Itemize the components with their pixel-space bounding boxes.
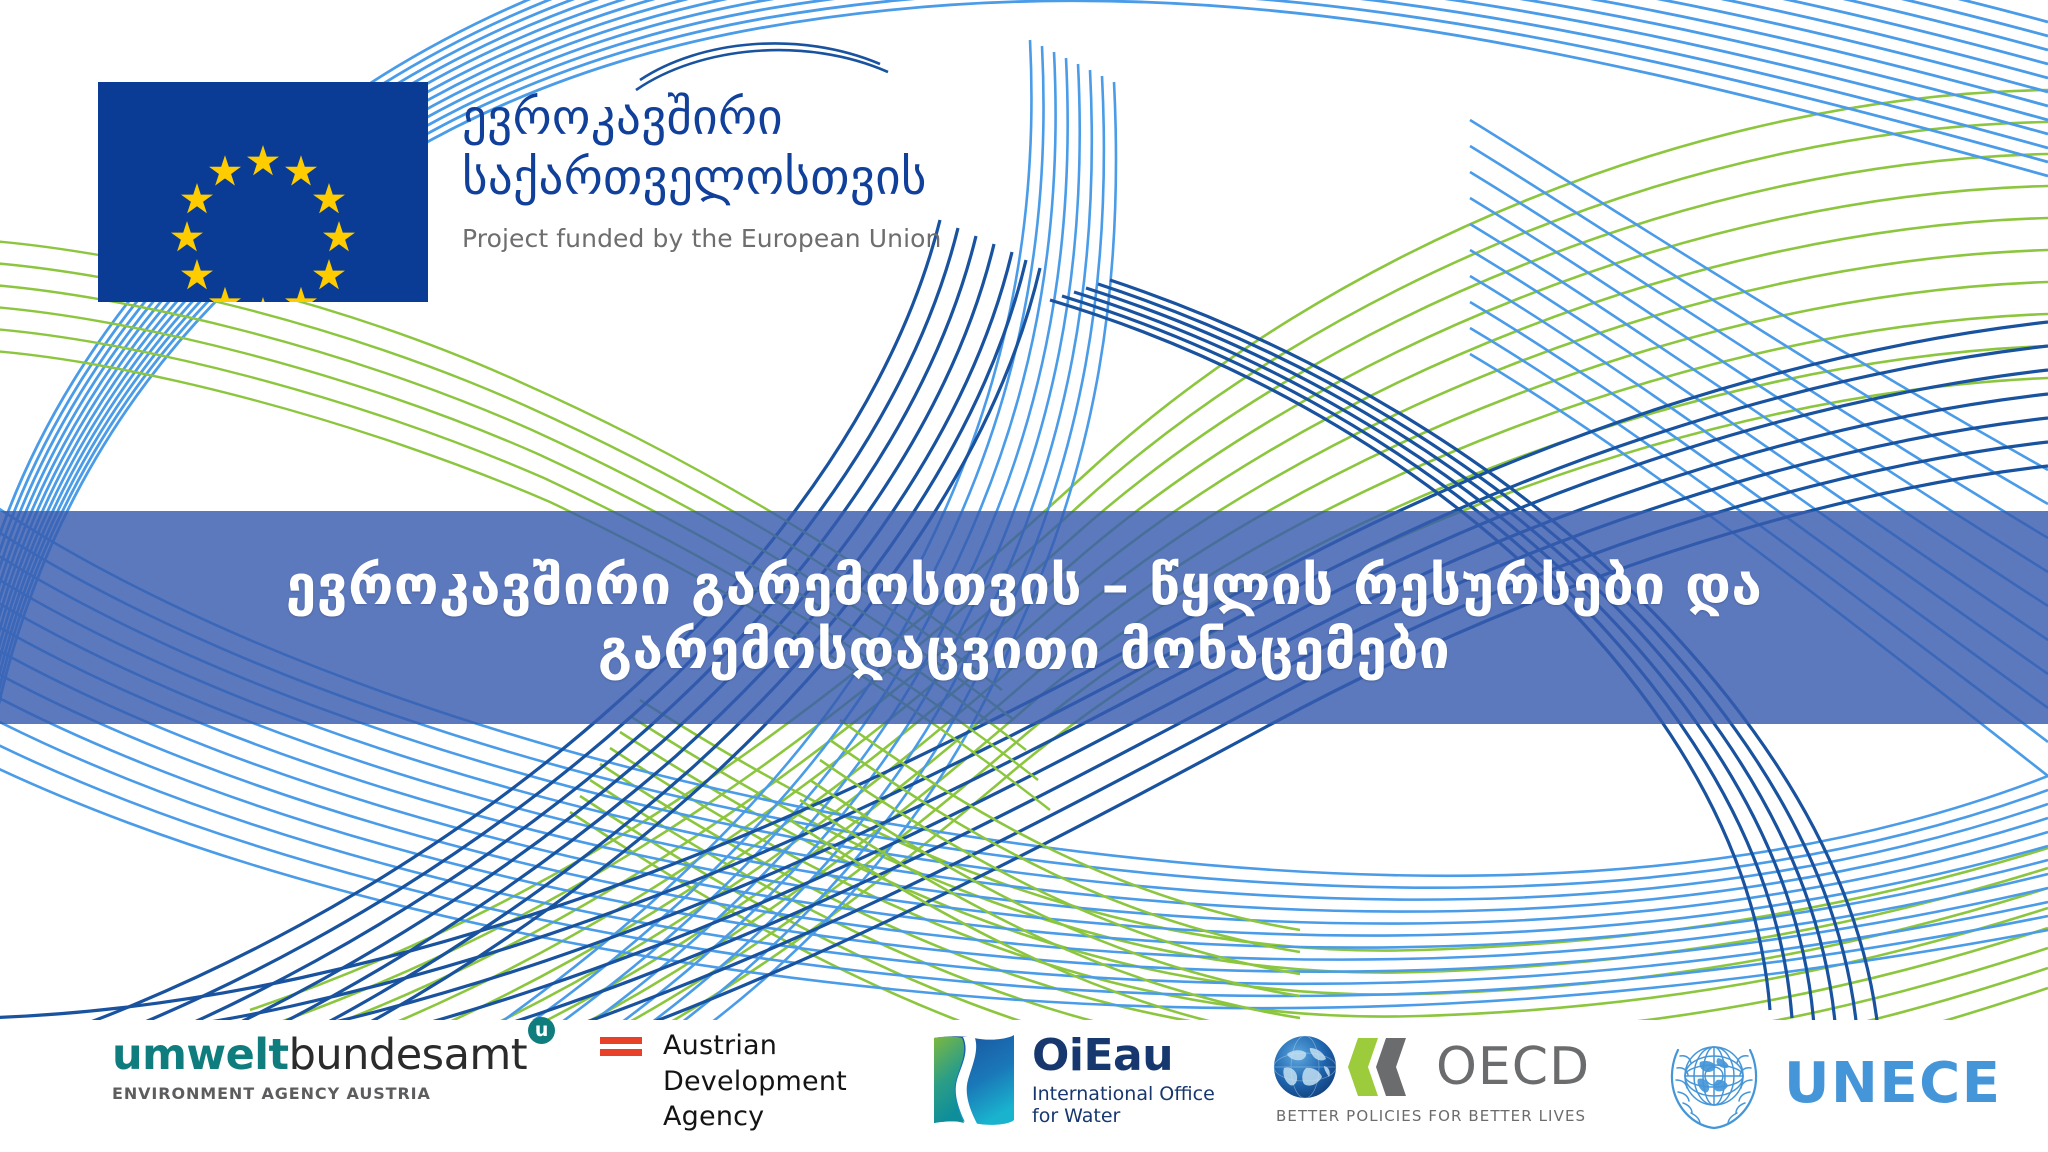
oecd-mark-row: OECD — [1272, 1034, 1590, 1100]
eu-logo-line-1: ევროკავშირი — [462, 88, 941, 148]
uba-wordmark: umweltbundesamtu — [112, 1034, 555, 1077]
uba-word-umwelt: umwelt — [112, 1030, 289, 1080]
uba-subtitle: ENVIRONMENT AGENCY AUSTRIA — [112, 1084, 555, 1103]
oieau-wordmark: OiEau — [1032, 1034, 1215, 1078]
slide-title: ევროკავშირი გარემოსთვის – წყლის რესურსებ… — [144, 554, 1904, 682]
oieau-text-block: OiEau International Office for Water — [1032, 1032, 1215, 1128]
ada-line-2: Development — [663, 1064, 847, 1100]
logo-austrian-development-agency: Austrian Development Agency — [600, 1028, 847, 1135]
eu-flag — [98, 82, 428, 302]
un-emblem-icon — [1660, 1032, 1768, 1136]
title-banner: ევროკავშირი გარემოსთვის – წყლის რესურსებ… — [0, 511, 2048, 724]
eu-funding-logo: ევროკავშირი საქართველოსთვის Project fund… — [98, 82, 941, 302]
eu-logo-line-2: საქართველოსთვის — [462, 148, 941, 208]
oieau-subtitle-1: International Office — [1032, 1083, 1215, 1105]
slide-title-line-1: ევროკავშირი გარემოსთვის – წყლის რესურსებ… — [144, 554, 1904, 618]
oecd-tagline: BETTER POLICIES FOR BETTER LIVES — [1276, 1107, 1586, 1125]
partner-logo-strip: umweltbundesamtu ENVIRONMENT AGENCY AUST… — [0, 1020, 2048, 1152]
logo-oieau: OiEau International Office for Water — [930, 1032, 1215, 1132]
unece-wordmark: UNECE — [1784, 1056, 2001, 1112]
oieau-subtitle-2: for Water — [1032, 1105, 1215, 1127]
eu-logo-text-block: ევროკავშირი საქართველოსთვის Project fund… — [462, 82, 941, 253]
oieau-water-mark-icon — [930, 1032, 1018, 1132]
eu-logo-tagline: Project funded by the European Union — [462, 224, 941, 253]
ada-text-block: Austrian Development Agency — [663, 1028, 847, 1135]
oecd-wordmark: OECD — [1436, 1041, 1590, 1093]
ada-line-3: Agency — [663, 1099, 847, 1135]
presentation-title-slide: ევროკავშირი საქართველოსთვის Project fund… — [0, 0, 2048, 1152]
slide-title-line-2: გარემოსდაცვითი მონაცემები — [144, 618, 1904, 682]
logo-umweltbundesamt: umweltbundesamtu ENVIRONMENT AGENCY AUST… — [112, 1034, 555, 1103]
logo-unece: UNECE — [1660, 1032, 2001, 1136]
green-converging-band-group — [790, 720, 1300, 1040]
logo-oecd: OECD BETTER POLICIES FOR BETTER LIVES — [1272, 1034, 1590, 1125]
uba-badge-icon: u — [528, 1017, 555, 1044]
oecd-globe-icon — [1272, 1034, 1338, 1100]
austria-flag-icon — [600, 1037, 642, 1056]
ada-line-1: Austrian — [663, 1028, 847, 1064]
uba-word-bundesamt: bundesamt — [289, 1030, 528, 1080]
eu-flag-stars — [98, 82, 428, 302]
oecd-chevrons-icon — [1346, 1036, 1428, 1098]
